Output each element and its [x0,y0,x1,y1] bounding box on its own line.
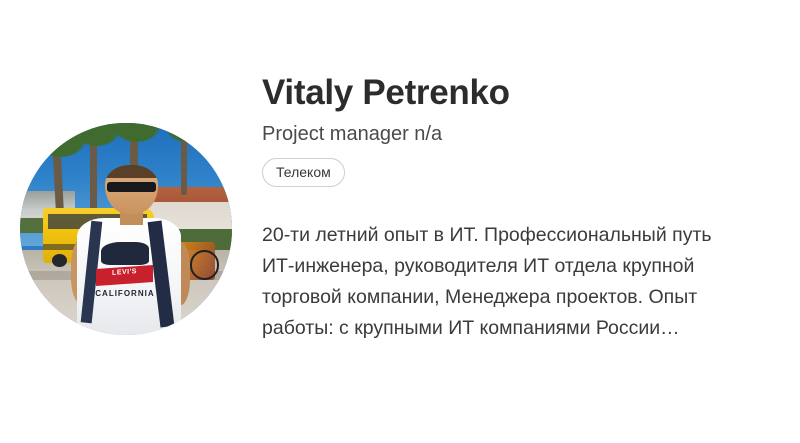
badge-row: Телеком [262,158,752,188]
profile-info: Vitaly Petrenko Project manager n/a Теле… [262,74,752,344]
profile-description: 20-ти летний опыт в ИТ. Профессиональный… [262,220,748,344]
avatar[interactable]: LEVI'S CALIFORNIA [20,123,232,335]
photo-shirt-state-text: CALIFORNIA [92,290,158,303]
photo-bus-wheel-front [52,254,67,267]
photo-bicycle-wheel-rear [190,250,219,279]
page-title: Vitaly Petrenko [262,74,752,113]
avatar-photo: LEVI'S CALIFORNIA [20,123,232,335]
status-badge[interactable]: Телеком [262,158,345,188]
profile-subtitle: Project manager n/a [262,122,752,146]
sunglasses-icon [107,182,156,192]
profile-card: LEVI'S CALIFORNIA Vitaly Petrenko Projec… [0,0,800,443]
photo-shirt-bear-graphic [101,242,150,265]
